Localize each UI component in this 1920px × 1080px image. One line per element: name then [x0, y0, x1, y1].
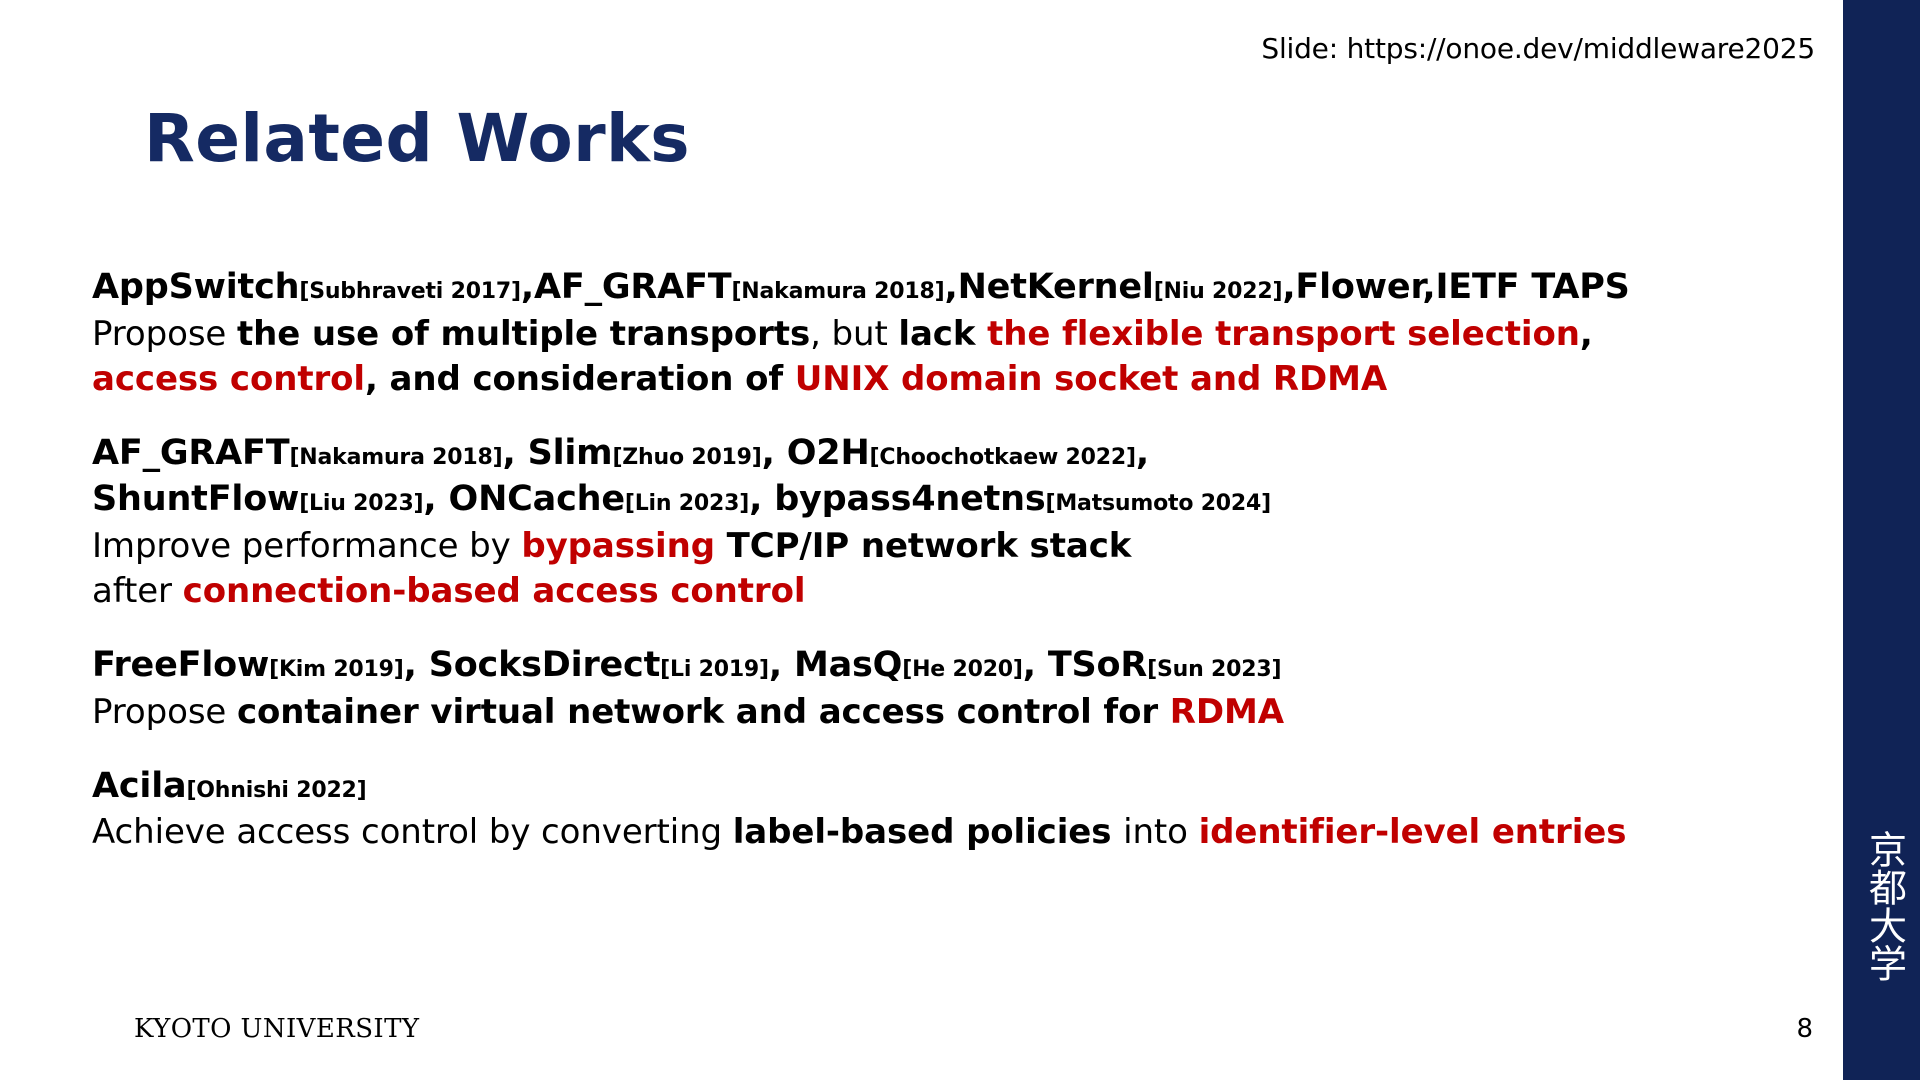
citation-ref: [Zhuo 2019] [612, 445, 761, 470]
related-work-description-line: Achieve access control by converting lab… [92, 810, 1832, 854]
related-work-heading: ShuntFlow[Liu 2023], ONCache[Lin 2023], … [92, 477, 1832, 523]
description-text: into [1123, 812, 1198, 852]
system-name: Slim [528, 433, 613, 473]
slide-body: AppSwitch[Subhraveti 2017],AF_GRAFT[Naka… [92, 265, 1832, 881]
highlighted-text: access control [92, 359, 365, 399]
description-text: , and consideration of [365, 359, 795, 399]
citation-ref: [Subhraveti 2017] [299, 279, 521, 304]
system-name: , [1023, 645, 1048, 685]
system-name: , [521, 267, 534, 307]
highlighted-text: UNIX domain socket and RDMA [795, 359, 1387, 399]
highlighted-text: identifier-level entries [1199, 812, 1627, 852]
system-name: , [944, 267, 957, 307]
related-work-description-line: access control, and consideration of UNI… [92, 357, 1832, 401]
description-text: Achieve access control by converting [92, 812, 733, 852]
citation-ref: [Kim 2019] [269, 657, 404, 682]
system-name: ONCache [449, 479, 625, 519]
system-name: , [749, 479, 774, 519]
system-name: AppSwitch [92, 267, 299, 307]
related-work-block: AppSwitch[Subhraveti 2017],AF_GRAFT[Naka… [92, 265, 1832, 401]
description-text: , [1580, 314, 1593, 354]
system-name: Acila [92, 766, 186, 806]
system-name: SocksDirect [429, 645, 660, 685]
system-name: bypass4netns [774, 479, 1045, 519]
system-name: MasQ [794, 645, 902, 685]
highlighted-text: the flexible transport selection [987, 314, 1580, 354]
related-work-heading: AppSwitch[Subhraveti 2017],AF_GRAFT[Naka… [92, 265, 1832, 311]
highlighted-text: RDMA [1170, 692, 1284, 732]
system-name: , [404, 645, 429, 685]
system-name: NetKernel [958, 267, 1154, 307]
description-text: Propose [92, 692, 237, 732]
related-work-heading: FreeFlow[Kim 2019], SocksDirect[Li 2019]… [92, 643, 1832, 689]
system-name: , [1282, 267, 1295, 307]
related-work-description-line: Propose container virtual network and ac… [92, 690, 1832, 734]
citation-ref: [Choochotkaew 2022] [870, 445, 1136, 470]
system-name: FreeFlow [92, 645, 269, 685]
system-name: , [762, 433, 787, 473]
system-name: Flower,IETF TAPS [1295, 267, 1629, 307]
system-name: , [769, 645, 794, 685]
system-name: TSoR [1048, 645, 1147, 685]
related-work-description-line: Improve performance by bypassing TCP/IP … [92, 524, 1832, 568]
citation-ref: [Liu 2023] [299, 491, 423, 516]
related-work-block: Acila[Ohnishi 2022]Achieve access contro… [92, 764, 1832, 855]
brand-sidebar-band: 京都大学 [1843, 0, 1920, 1080]
page-title: Related Works [144, 100, 690, 177]
system-name: O2H [787, 433, 870, 473]
citation-ref: [Nakamura 2018] [289, 445, 502, 470]
footer-organization: KYOTO UNIVERSITY [134, 1014, 419, 1044]
citation-ref: [He 2020] [902, 657, 1023, 682]
system-name: AF_GRAFT [92, 433, 289, 473]
system-name: AF_GRAFT [534, 267, 731, 307]
description-text: , but [810, 314, 898, 354]
university-name-japanese: 京都大学 [1859, 830, 1905, 982]
description-text: container virtual network and access con… [237, 692, 1170, 732]
related-work-block: FreeFlow[Kim 2019], SocksDirect[Li 2019]… [92, 643, 1832, 734]
description-text: label-based policies [733, 812, 1123, 852]
highlighted-text: bypassing [521, 526, 726, 566]
description-text: Propose [92, 314, 237, 354]
description-text: lack [898, 314, 987, 354]
citation-ref: [Lin 2023] [625, 491, 749, 516]
slide-url-note: Slide: https://onoe.dev/middleware2025 [1261, 32, 1815, 65]
system-name: , [423, 479, 448, 519]
citation-ref: [Niu 2022] [1154, 279, 1283, 304]
highlighted-text: connection-based access control [183, 571, 806, 611]
system-name: ShuntFlow [92, 479, 299, 519]
citation-ref: [Li 2019] [660, 657, 769, 682]
related-work-block: AF_GRAFT[Nakamura 2018], Slim[Zhuo 2019]… [92, 431, 1832, 613]
description-text: TCP/IP network stack [727, 526, 1132, 566]
description-text: Improve performance by [92, 526, 521, 566]
related-work-heading: Acila[Ohnishi 2022] [92, 764, 1832, 810]
description-text: the use of multiple transports [237, 314, 810, 354]
related-work-heading: AF_GRAFT[Nakamura 2018], Slim[Zhuo 2019]… [92, 431, 1832, 477]
citation-ref: [Sun 2023] [1147, 657, 1281, 682]
description-text: after [92, 571, 183, 611]
related-work-description-line: after connection-based access control [92, 569, 1832, 613]
citation-ref: [Nakamura 2018] [731, 279, 944, 304]
related-work-description-line: Propose the use of multiple transports, … [92, 312, 1832, 356]
citation-ref: [Matsumoto 2024] [1046, 491, 1271, 516]
system-name: , [502, 433, 527, 473]
citation-ref: [Ohnishi 2022] [186, 778, 366, 803]
page-number: 8 [1796, 1014, 1813, 1044]
system-name: , [1136, 433, 1149, 473]
